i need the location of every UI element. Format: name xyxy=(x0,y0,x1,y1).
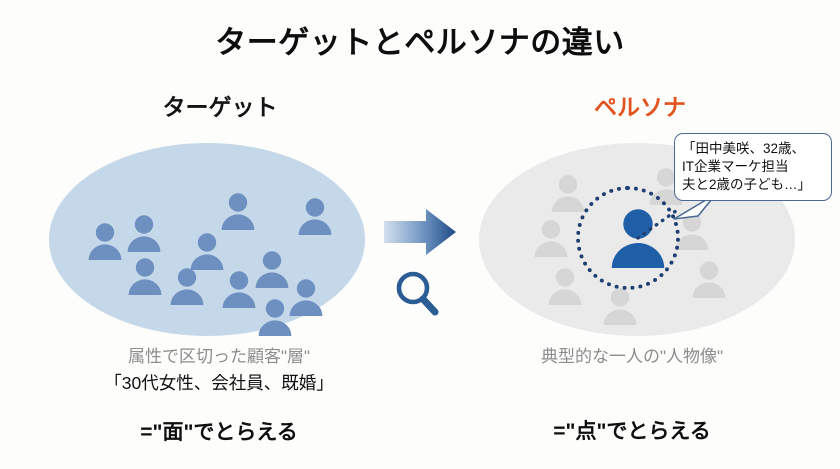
person-icon xyxy=(545,265,585,305)
person-icon xyxy=(286,276,326,316)
bubble-line-2: IT企業マーケ担当 xyxy=(682,158,824,176)
persona-caption-spacer xyxy=(462,370,802,395)
right-arrow-icon xyxy=(384,209,456,255)
target-heading: ターゲット xyxy=(60,88,380,122)
bubble-line-1: 「田中美咲、32歳、 xyxy=(682,140,824,158)
target-caption-gray: 属性で区切った顧客"層" xyxy=(49,344,389,370)
persona-speech-bubble: 「田中美咲、32歳、 IT企業マーケ担当 夫と2歳の子ども…」 xyxy=(674,133,832,201)
person-icon xyxy=(187,230,227,270)
persona-caption-block: 典型的な一人の"人物像" ="点"でとらえる xyxy=(462,344,802,445)
magnifying-glass-icon xyxy=(393,269,441,317)
persona-conclusion: ="点"でとらえる xyxy=(462,415,802,445)
persona-caption-gray: 典型的な一人の"人物像" xyxy=(462,344,802,370)
person-icon xyxy=(548,172,588,212)
person-icon xyxy=(124,212,164,252)
person-icon xyxy=(689,258,729,298)
target-caption-block: 属性で区切った顧客"層" 「30代女性、会社員、既婚」 ="面"でとらえる xyxy=(49,344,389,446)
infographic-canvas: ターゲットとペルソナの違い ターゲット ペルソナ xyxy=(0,0,840,469)
bubble-line-3: 夫と2歳の子ども…」 xyxy=(682,176,824,194)
target-caption-example: 「30代女性、会社員、既婚」 xyxy=(49,370,389,396)
person-icon xyxy=(85,220,125,260)
person-icon xyxy=(218,190,258,230)
person-icon xyxy=(531,217,571,257)
person-icon xyxy=(125,255,165,295)
person-icon xyxy=(167,265,207,305)
page-title: ターゲットとペルソナの違い xyxy=(0,17,840,62)
person-icon xyxy=(295,195,335,235)
person-icon xyxy=(600,285,640,325)
persona-heading: ペルソナ xyxy=(480,88,800,122)
target-conclusion: ="面"でとらえる xyxy=(49,416,389,446)
